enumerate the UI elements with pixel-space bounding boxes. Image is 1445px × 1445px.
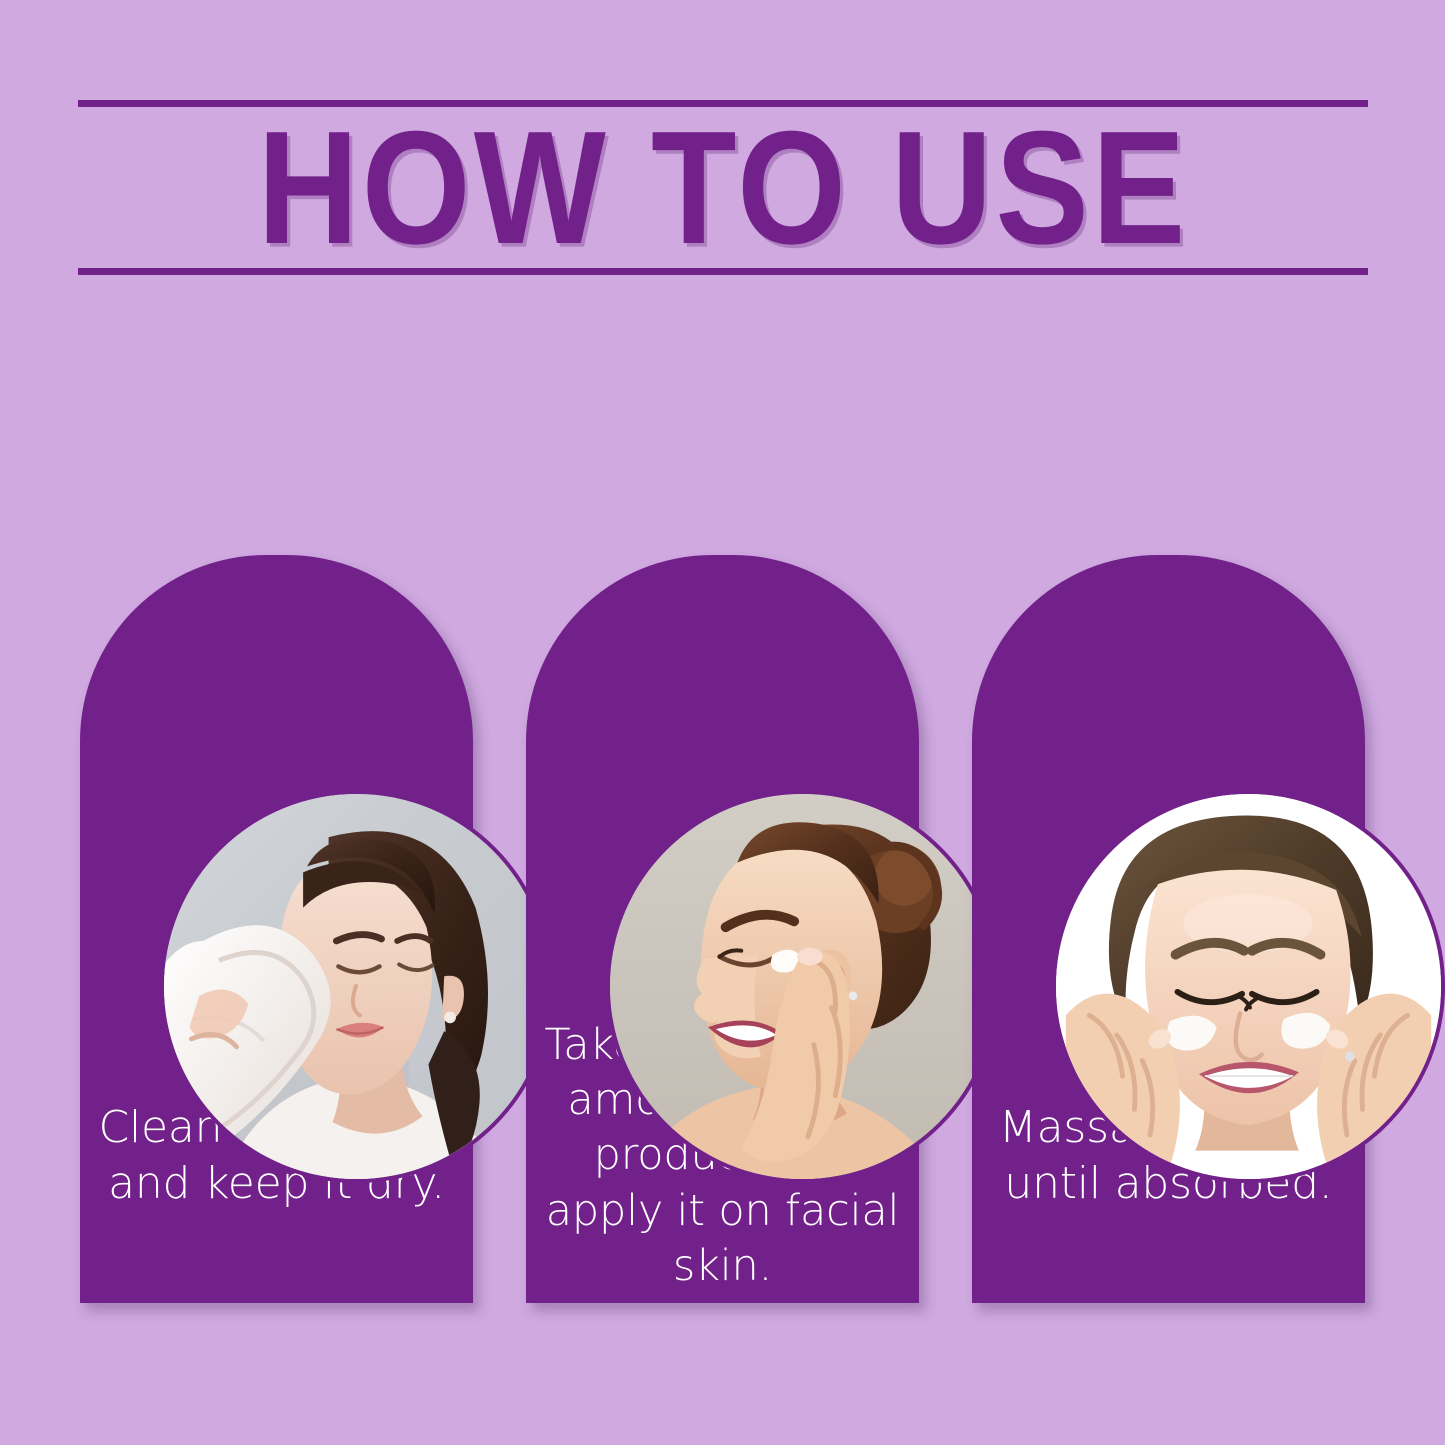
step-photo-2 <box>606 790 999 1183</box>
woman-applying-cream-icon <box>610 794 995 1179</box>
header-rule-bottom <box>78 268 1368 275</box>
woman-massaging-face-icon <box>1056 794 1441 1179</box>
steps-container: 1 Clean facial skin and keep it dry. <box>80 395 1365 1303</box>
page-title: HOW TO USE <box>39 81 1406 295</box>
page-header: HOW TO USE <box>78 100 1368 275</box>
step-photo-wrap-2 <box>606 790 999 1183</box>
woman-towel-drying-icon <box>164 794 549 1179</box>
step-photo-1 <box>160 790 553 1183</box>
step-photo-3 <box>1052 790 1445 1183</box>
step-photo-wrap-3 <box>1052 790 1445 1183</box>
step-photo-wrap-1 <box>160 790 553 1183</box>
